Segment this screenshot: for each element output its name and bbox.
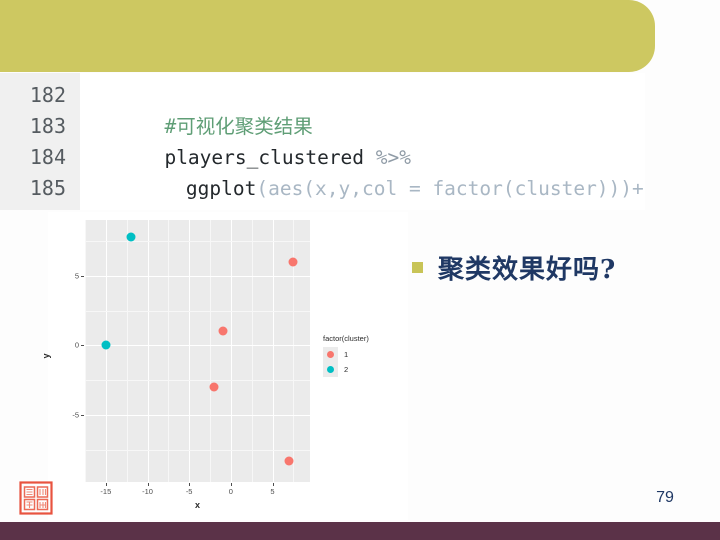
- y-axis-title: y: [41, 353, 51, 358]
- legend-dot-icon: [327, 366, 334, 373]
- x-tick-mark: [231, 483, 232, 486]
- scatter-point: [101, 341, 110, 350]
- code-function-ggplot: ggplot: [186, 177, 256, 200]
- legend-item-label: 2: [344, 365, 348, 374]
- grid-line: [252, 220, 253, 482]
- code-line-number: 184: [0, 142, 80, 173]
- scatter-point: [289, 257, 298, 266]
- code-variable-name: players_clustered: [164, 146, 364, 169]
- x-tick-label: 5: [260, 487, 286, 496]
- grid-line: [85, 380, 310, 381]
- x-tick-mark: [106, 483, 107, 486]
- y-tick-label: 0: [53, 341, 79, 350]
- code-source-area[interactable]: #可视化聚类结果 players_clustered %>% ggplot(ae…: [80, 73, 645, 210]
- grid-line: [210, 220, 211, 482]
- x-tick-label: -5: [176, 487, 202, 496]
- plot-panel: [85, 220, 310, 482]
- page-number: 79: [640, 489, 690, 507]
- y-tick-label: 5: [53, 271, 79, 280]
- code-line-number: 182: [0, 80, 80, 111]
- seal-stamp-icon: [19, 481, 53, 515]
- legend-dot-icon: [327, 351, 334, 358]
- grid-line: [85, 450, 310, 451]
- legend-item-label: 1: [344, 350, 348, 359]
- grid-line: [106, 220, 107, 482]
- scatter-point: [285, 457, 294, 466]
- x-tick-label: -10: [135, 487, 161, 496]
- code-args-geompoint: (size = 3): [303, 208, 420, 210]
- legend-key-swatch: [323, 362, 338, 377]
- bullet-item-label: 聚类效果好吗?: [438, 249, 616, 286]
- legend-title: factor(cluster): [323, 334, 369, 343]
- code-line-number-gutter: 182 183 184 185: [0, 73, 80, 210]
- legend-key-swatch: [323, 347, 338, 362]
- chart-legend: factor(cluster) 1 2: [323, 334, 369, 377]
- code-line-number: 183: [0, 111, 80, 142]
- legend-item[interactable]: 1: [323, 347, 369, 362]
- x-tick-label: -15: [93, 487, 119, 496]
- scatter-point: [218, 327, 227, 336]
- grid-line: [85, 276, 310, 277]
- grid-line: [85, 311, 310, 312]
- y-tick-mark: [81, 415, 84, 416]
- scatter-point: [210, 383, 219, 392]
- code-line-comment: #可视化聚类结果: [94, 80, 645, 111]
- code-pipe-operator: %>%: [376, 146, 411, 169]
- y-tick-label: -5: [53, 411, 79, 420]
- y-tick-mark: [81, 345, 84, 346]
- bullet-item: 聚类效果好吗?: [412, 249, 616, 286]
- grid-line: [85, 220, 86, 482]
- x-tick-mark: [148, 483, 149, 486]
- x-tick-mark: [189, 483, 190, 486]
- scatter-point: [126, 232, 135, 241]
- code-block: 182 183 184 185 #可视化聚类结果 players_cluster…: [0, 73, 645, 210]
- grid-line: [127, 220, 128, 482]
- grid-line: [231, 220, 232, 482]
- grid-line: [273, 220, 274, 482]
- grid-line: [168, 220, 169, 482]
- x-axis-title: x: [85, 500, 310, 510]
- grid-line: [85, 241, 310, 242]
- ggplot-scatter-figure: x y factor(cluster) 1 2 50-5-15-10-505: [48, 212, 408, 520]
- code-function-geompoint: geom_point: [186, 208, 303, 210]
- x-tick-mark: [273, 483, 274, 486]
- bullet-square-icon: [412, 262, 423, 273]
- code-line-number: 185: [0, 173, 80, 204]
- y-tick-mark: [81, 276, 84, 277]
- footer-bar: [0, 522, 720, 540]
- grid-line: [148, 220, 149, 482]
- code-args-ggplot: (aes(x,y,col = factor(cluster)))+: [256, 177, 643, 200]
- title-banner: [0, 0, 655, 72]
- x-tick-label: 0: [218, 487, 244, 496]
- grid-line: [85, 345, 310, 346]
- grid-line: [85, 415, 310, 416]
- code-comment-text: #可视化聚类结果: [164, 115, 312, 138]
- legend-item[interactable]: 2: [323, 362, 369, 377]
- grid-line: [189, 220, 190, 482]
